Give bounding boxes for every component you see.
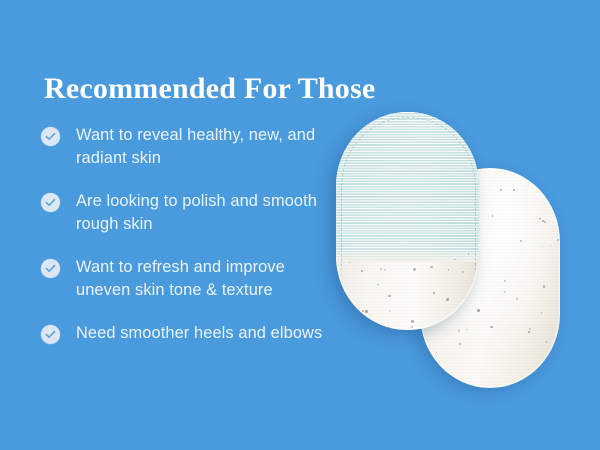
exfoliating-pads-photo [330,100,600,400]
ribbed-scrub-surface [336,112,479,262]
list-item: Are looking to polish and smooth rough s… [41,190,341,236]
page-title: Recommended For Those [44,74,375,104]
promo-slide: Recommended For Those Want to reveal hea… [0,0,600,450]
list-item-label: Want to refresh and improve uneven skin … [76,256,341,302]
list-item: Need smoother heels and elbows [41,322,341,345]
list-item: Want to reveal healthy, new, and radiant… [41,124,341,170]
check-circle-icon [41,127,60,146]
list-item-label: Are looking to polish and smooth rough s… [76,190,341,236]
list-item-label: Want to reveal healthy, new, and radiant… [76,124,341,170]
check-circle-icon [41,193,60,212]
list-item: Want to refresh and improve uneven skin … [41,256,341,302]
check-circle-icon [41,259,60,278]
list-item-label: Need smoother heels and elbows [76,322,322,345]
benefits-list: Want to reveal healthy, new, and radiant… [41,124,341,365]
front-exfoliating-pad [336,112,479,330]
check-circle-icon [41,325,60,344]
